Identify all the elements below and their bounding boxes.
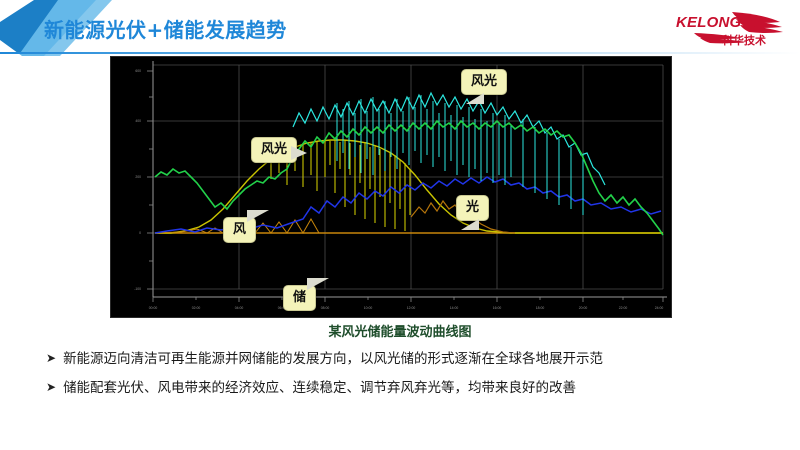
svg-text:16:00: 16:00: [493, 306, 502, 310]
svg-text:00:00: 00:00: [149, 306, 158, 310]
svg-text:02:00: 02:00: [192, 306, 201, 310]
bullet-text: 新能源迈向清洁可再生能源并网储能的发展方向，以风光储的形式逐渐在全球各地展开示范: [63, 350, 766, 368]
callout-tail-icon: [307, 278, 329, 290]
svg-text:12:00: 12:00: [407, 306, 416, 310]
bullet-list: ➤ 新能源迈向清洁可再生能源并网储能的发展方向，以风光储的形式逐渐在全球各地展开…: [46, 350, 766, 408]
svg-text:400: 400: [135, 119, 141, 123]
svg-text:24:00: 24:00: [655, 306, 664, 310]
callout-label: 风光: [471, 74, 497, 89]
svg-text:20:00: 20:00: [579, 306, 588, 310]
bullet-text: 储能配套光伏、风电带来的经济效应、连续稳定、调节弃风弃光等，均带来良好的改善: [63, 379, 766, 397]
kelong-logo: KELONG 科华技术: [670, 6, 786, 48]
header-divider: [0, 52, 800, 54]
callout-chu: 储: [283, 285, 316, 311]
callout-label: 光: [466, 200, 479, 215]
callout-label: 风光: [261, 142, 287, 157]
arrow-bullet-icon: ➤: [46, 379, 56, 395]
svg-text:22:00: 22:00: [619, 306, 628, 310]
svg-text:10:00: 10:00: [364, 306, 373, 310]
svg-text:14:00: 14:00: [450, 306, 459, 310]
callout-tail-icon: [291, 146, 307, 160]
svg-text:08:00: 08:00: [321, 306, 330, 310]
svg-text:0: 0: [139, 231, 141, 235]
page-title: 新能源光伏+储能发展趋势: [44, 14, 287, 43]
svg-text:04:00: 04:00: [235, 306, 244, 310]
svg-text:600: 600: [135, 69, 141, 73]
slide-root: 新能源光伏+储能发展趋势 KELONG 科华技术: [0, 0, 800, 450]
chart-plot-area: 600 400 200 0 -100 00:00 02:00 04:00 06:…: [111, 57, 671, 317]
bullet-item: ➤ 储能配套光伏、风电带来的经济效应、连续稳定、调节弃风弃光等，均带来良好的改善: [46, 379, 766, 397]
callout-tail-icon: [466, 93, 484, 104]
arrow-bullet-icon: ➤: [46, 350, 56, 366]
svg-text:科华技术: 科华技术: [722, 33, 766, 47]
svg-text:KELONG: KELONG: [676, 14, 742, 31]
bullet-item: ➤ 新能源迈向清洁可再生能源并网储能的发展方向，以风光储的形式逐渐在全球各地展开…: [46, 350, 766, 368]
callout-label: 风: [233, 222, 246, 237]
callout-feng: 风: [223, 217, 256, 243]
callout-tail-icon: [461, 219, 479, 230]
callout-label: 储: [293, 290, 306, 305]
energy-fluctuation-chart: 600 400 200 0 -100 00:00 02:00 04:00 06:…: [110, 56, 672, 318]
callout-tail-icon: [247, 210, 269, 222]
svg-text:200: 200: [135, 175, 141, 179]
callout-fengguang-left: 风光: [251, 137, 297, 163]
callout-fengguang-right: 风光: [461, 69, 507, 95]
callout-guang: 光: [456, 195, 489, 221]
svg-text:-100: -100: [134, 287, 141, 291]
svg-text:18:00: 18:00: [536, 306, 545, 310]
chart-caption: 某风光储能量波动曲线图: [0, 321, 800, 340]
